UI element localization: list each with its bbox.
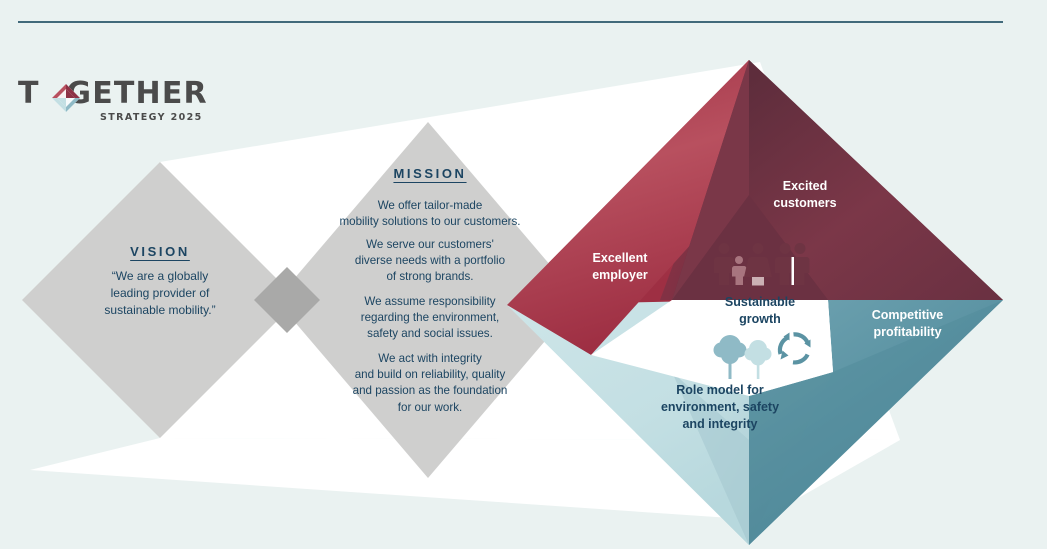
diamond-logo-icon bbox=[51, 83, 81, 113]
vision-title: VISION bbox=[95, 243, 225, 261]
label-role-model[interactable]: Role model for environment, safety and i… bbox=[630, 382, 810, 433]
vision-body: “We are a globally leading provider of s… bbox=[80, 268, 240, 319]
label-sustainable-growth: Sustainable growth bbox=[700, 294, 820, 328]
label-excellent-employer[interactable]: Excellent employer bbox=[560, 250, 680, 284]
people-group-icon bbox=[714, 243, 810, 286]
label-excited-customers[interactable]: Excited customers bbox=[740, 178, 870, 212]
logo-word-before: T bbox=[18, 76, 40, 111]
together-logo: TOGETHER STRATEGY 2025 bbox=[18, 76, 248, 136]
mission-title: MISSION bbox=[335, 165, 525, 183]
logo-wordmark: TOGETHER bbox=[18, 76, 208, 111]
label-competitive-profitability[interactable]: Competitive profitability bbox=[840, 307, 975, 341]
mission-paragraph: We serve our customers' diverse needs wi… bbox=[325, 237, 535, 286]
slide-canvas: TOGETHER STRATEGY 2025 VISION “We are a … bbox=[0, 0, 1047, 549]
logo-subtitle: STRATEGY 2025 bbox=[100, 112, 203, 123]
logo-word-after: GETHER bbox=[66, 76, 207, 111]
mission-paragraph: We assume responsibility regarding the e… bbox=[325, 294, 535, 343]
mission-paragraph: We act with integrity and build on relia… bbox=[325, 351, 535, 416]
mission-paragraph: We offer tailor-made mobility solutions … bbox=[325, 198, 535, 230]
